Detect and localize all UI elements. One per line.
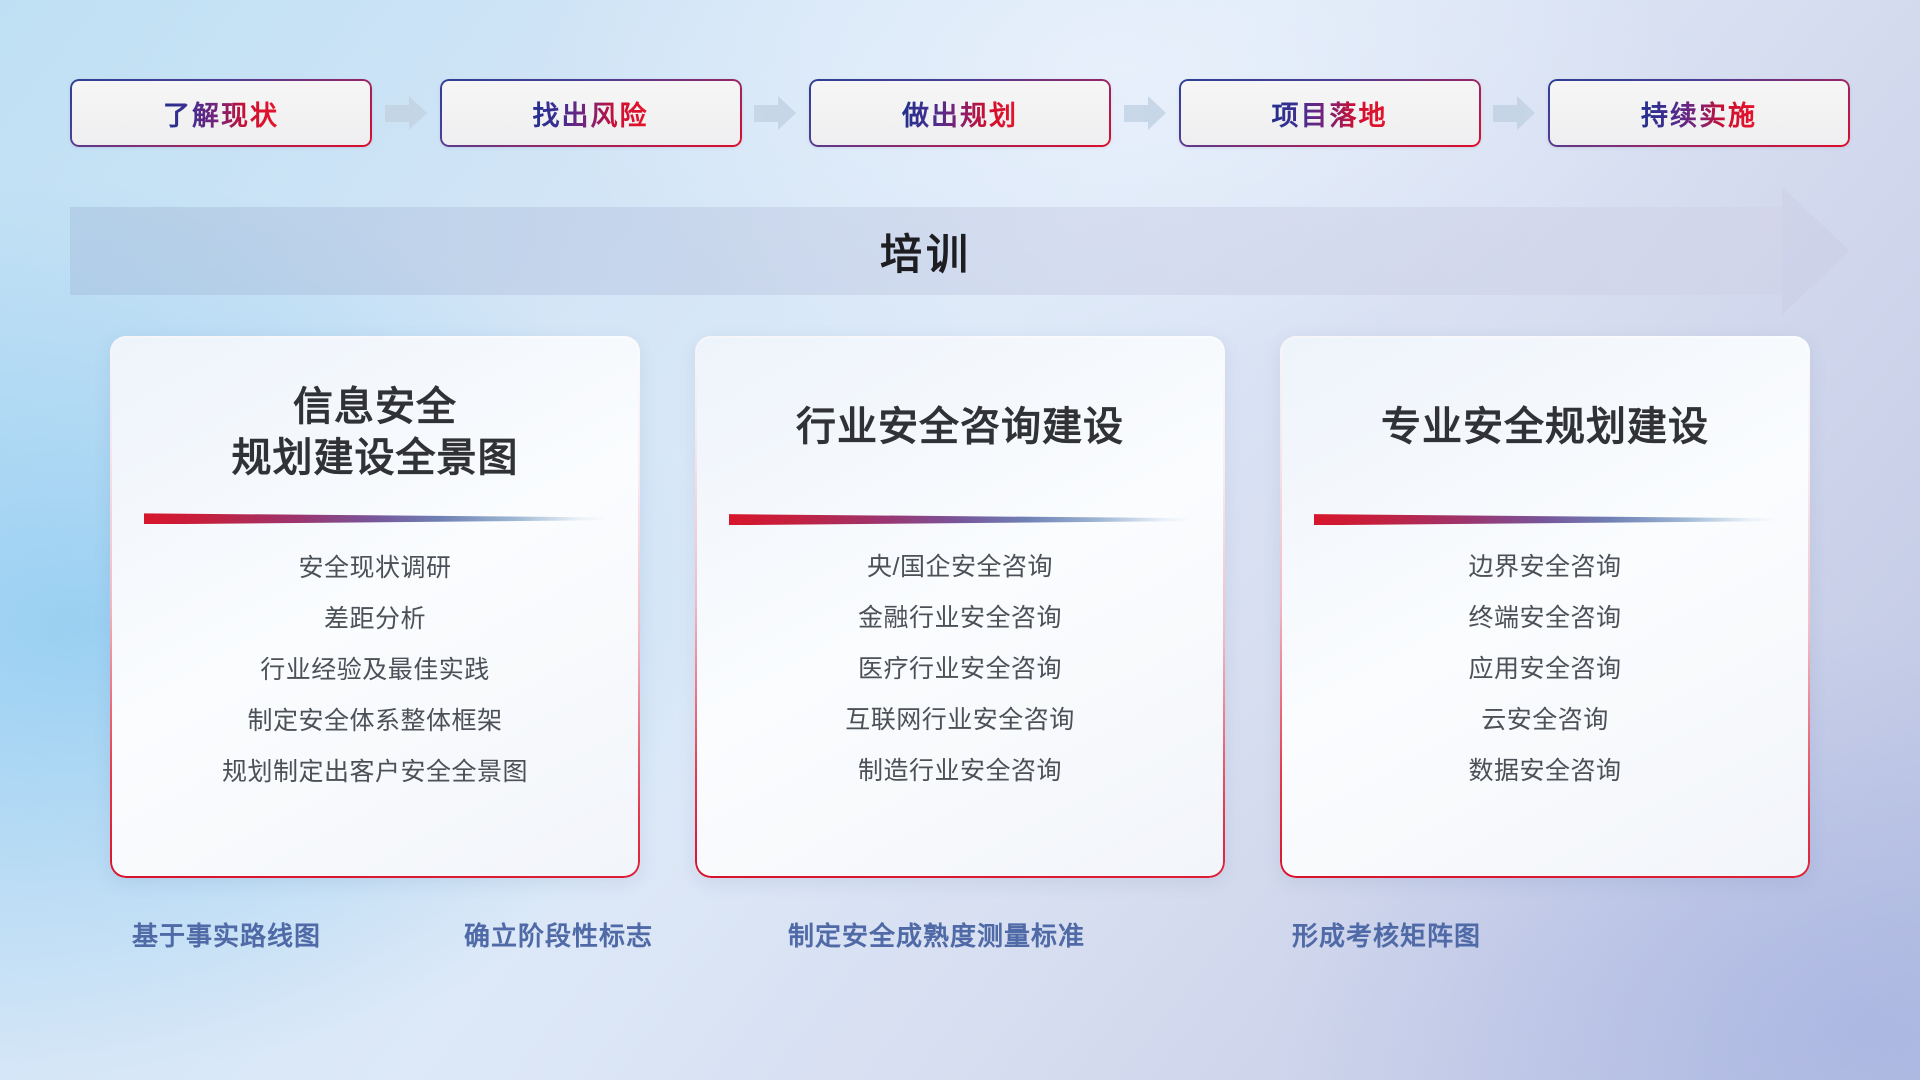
banner-arrow-tip-icon bbox=[1782, 187, 1850, 315]
card-divider-icon bbox=[1314, 513, 1776, 525]
card-information-security-blueprint[interactable]: 信息安全 规划建设全景图 安全现状调研 差距分析 行业经验及最佳实践 制定安全体… bbox=[110, 336, 640, 878]
arrow-right-icon bbox=[1493, 96, 1535, 130]
list-item: 应用安全咨询 bbox=[1306, 657, 1784, 682]
list-item: 医疗行业安全咨询 bbox=[721, 657, 1199, 682]
step-label-4: 项目落地 bbox=[1272, 94, 1388, 133]
card-item-list: 边界安全咨询 终端安全咨询 应用安全咨询 云安全咨询 数据安全咨询 bbox=[1306, 555, 1784, 784]
caption-milestones: 确立阶段性标志 bbox=[464, 916, 653, 953]
arrow-head bbox=[1517, 96, 1535, 130]
arrow-head bbox=[778, 96, 796, 130]
step-label-2: 找出风险 bbox=[533, 94, 649, 133]
capability-cards: 信息安全 规划建设全景图 安全现状调研 差距分析 行业经验及最佳实践 制定安全体… bbox=[110, 336, 1810, 878]
divider-bar bbox=[729, 513, 1191, 525]
outcome-captions: 基于事实路线图 确立阶段性标志 制定安全成熟度测量标准 形成考核矩阵图 bbox=[0, 916, 1920, 960]
arrow-shaft bbox=[1493, 105, 1519, 122]
list-item: 终端安全咨询 bbox=[1306, 606, 1784, 631]
arrow-head bbox=[409, 96, 427, 130]
divider-bar bbox=[144, 512, 606, 524]
arrow-right-icon bbox=[1124, 96, 1166, 130]
caption-assessment-matrix: 形成考核矩阵图 bbox=[1292, 916, 1481, 953]
slide-canvas: 了解现状 找出风险 做出规划 项目落地 持续实施 bbox=[0, 0, 1920, 1080]
card-divider-icon bbox=[144, 512, 606, 524]
process-step-flow: 了解现状 找出风险 做出规划 项目落地 持续实施 bbox=[70, 77, 1850, 149]
list-item: 规划制定出客户安全全景图 bbox=[136, 760, 614, 785]
card-professional-security-planning[interactable]: 专业安全规划建设 边界安全咨询 终端安全咨询 应用安全咨询 云安全咨询 数据安全… bbox=[1280, 336, 1810, 878]
step-label-5: 持续实施 bbox=[1641, 94, 1757, 133]
arrow-shaft bbox=[385, 105, 411, 122]
card-item-list: 安全现状调研 差距分析 行业经验及最佳实践 制定安全体系整体框架 规划制定出客户… bbox=[136, 556, 614, 785]
card-item-list: 央/国企安全咨询 金融行业安全咨询 医疗行业安全咨询 互联网行业安全咨询 制造行… bbox=[721, 555, 1199, 784]
list-item: 行业经验及最佳实践 bbox=[136, 658, 614, 683]
caption-roadmap: 基于事实路线图 bbox=[132, 916, 321, 953]
list-item: 央/国企安全咨询 bbox=[721, 555, 1199, 580]
divider-bar bbox=[1314, 513, 1776, 525]
list-item: 数据安全咨询 bbox=[1306, 759, 1784, 784]
training-banner: 培训 bbox=[70, 207, 1850, 295]
card-title: 信息安全 规划建设全景图 bbox=[232, 382, 519, 484]
step-label-3: 做出规划 bbox=[902, 94, 1018, 133]
arrow-right-icon bbox=[754, 96, 796, 130]
list-item: 制定安全体系整体框架 bbox=[136, 709, 614, 734]
list-item: 安全现状调研 bbox=[136, 556, 614, 581]
step-box-1[interactable]: 了解现状 bbox=[70, 79, 372, 147]
arrow-shaft bbox=[1124, 105, 1150, 122]
arrow-right-icon bbox=[385, 96, 427, 130]
list-item: 边界安全咨询 bbox=[1306, 555, 1784, 580]
list-item: 金融行业安全咨询 bbox=[721, 606, 1199, 631]
step-box-5[interactable]: 持续实施 bbox=[1548, 79, 1850, 147]
card-title: 行业安全咨询建设 bbox=[796, 402, 1124, 453]
step-box-2[interactable]: 找出风险 bbox=[440, 79, 742, 147]
card-industry-security-consulting[interactable]: 行业安全咨询建设 央/国企安全咨询 金融行业安全咨询 医疗行业安全咨询 互联网行… bbox=[695, 336, 1225, 878]
list-item: 云安全咨询 bbox=[1306, 708, 1784, 733]
card-title: 专业安全规划建设 bbox=[1381, 402, 1709, 453]
arrow-head bbox=[1148, 96, 1166, 130]
caption-maturity-standard: 制定安全成熟度测量标准 bbox=[788, 916, 1085, 953]
banner-title: 培训 bbox=[70, 207, 1782, 295]
step-box-3[interactable]: 做出规划 bbox=[809, 79, 1111, 147]
list-item: 互联网行业安全咨询 bbox=[721, 708, 1199, 733]
list-item: 差距分析 bbox=[136, 607, 614, 632]
step-box-4[interactable]: 项目落地 bbox=[1179, 79, 1481, 147]
step-label-1: 了解现状 bbox=[163, 94, 279, 133]
arrow-shaft bbox=[754, 105, 780, 122]
card-divider-icon bbox=[729, 513, 1191, 525]
list-item: 制造行业安全咨询 bbox=[721, 759, 1199, 784]
